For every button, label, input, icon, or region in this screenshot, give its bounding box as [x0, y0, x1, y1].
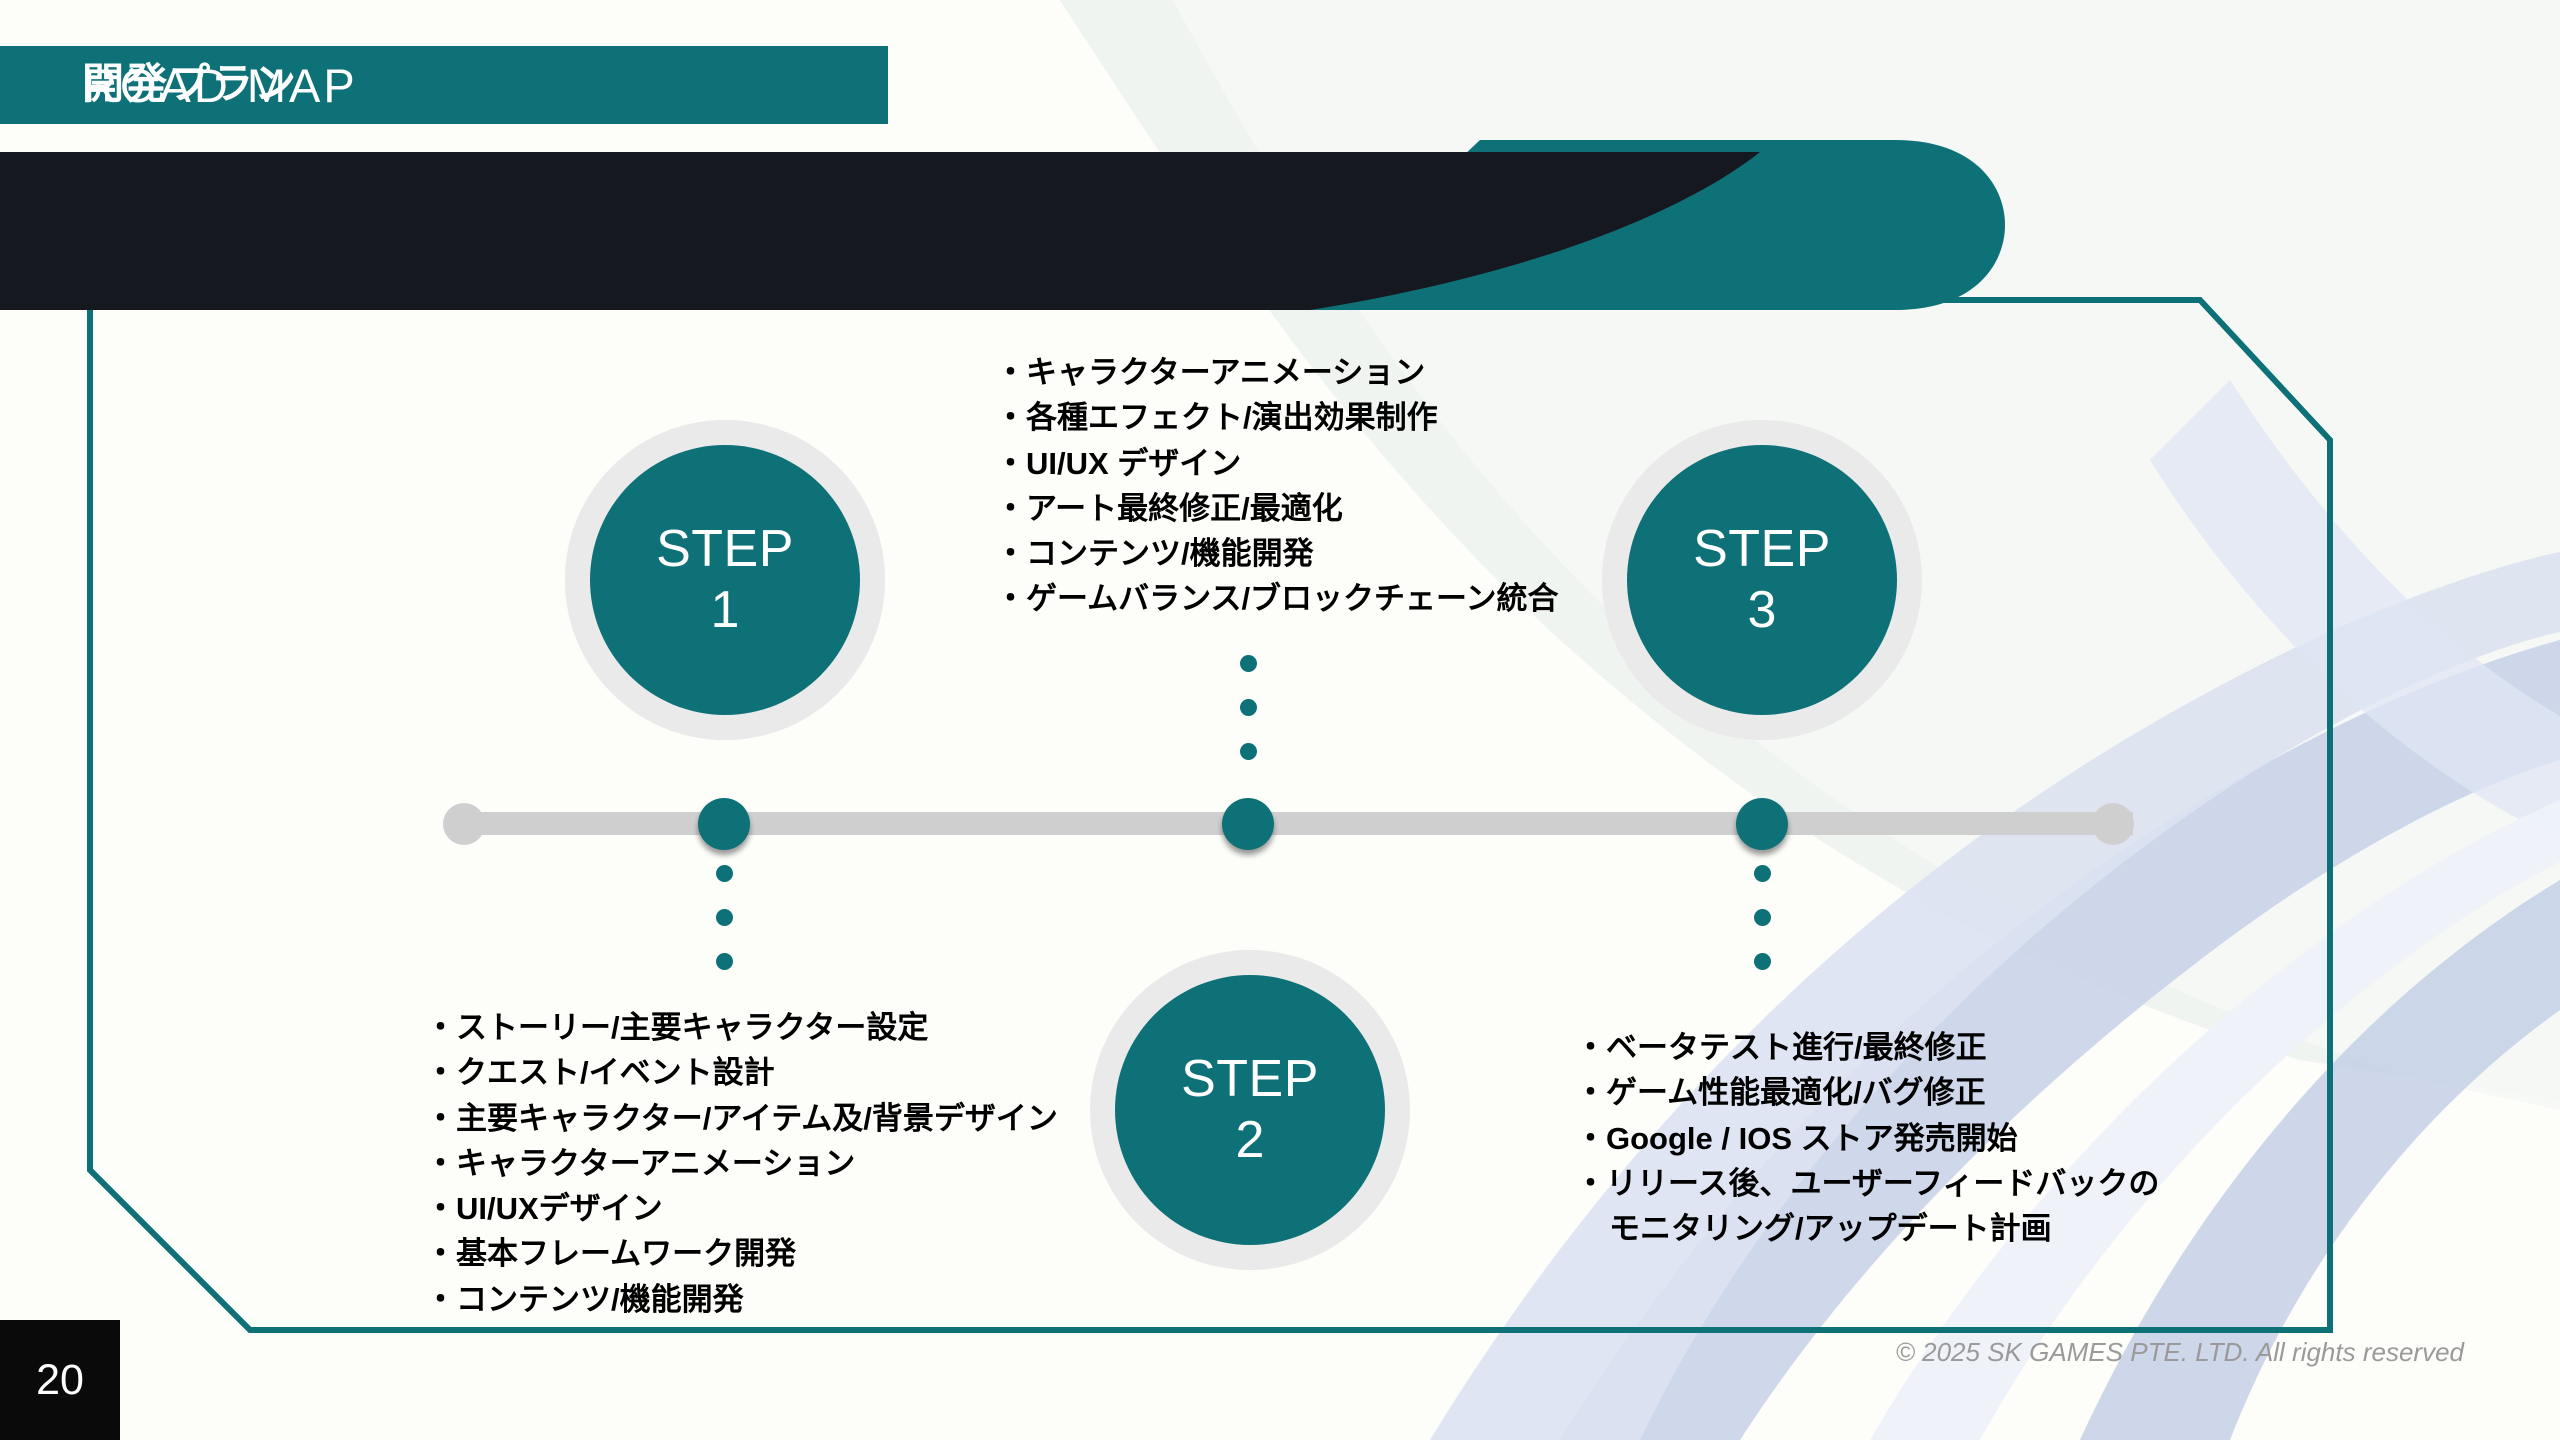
bullet-item: ・コンテンツ/機能開発 [995, 531, 1559, 576]
bubble-disc-3: STEP 3 [1627, 445, 1897, 715]
connector-dot [716, 953, 733, 970]
banner-shape [0, 140, 2010, 310]
connector-dots-step-2 [1240, 655, 1257, 787]
bullet-item: ・UI/UXデザイン [425, 1186, 1058, 1231]
timeline-start-cap [443, 803, 485, 845]
bubble-disc-1: STEP 1 [590, 445, 860, 715]
bullet-item: ・キャラクターアニメーション [995, 350, 1559, 395]
bullet-item: ・ベータテスト進行/最終修正 [1575, 1025, 2159, 1070]
bullet-item: ・ゲームバランス/ブロックチェーン統合 [995, 576, 1559, 621]
subtitle-text: 開発プラン [82, 50, 297, 111]
step-bubble-3[interactable]: STEP 3 [1602, 420, 1922, 740]
page-number-badge: 20 [0, 1320, 120, 1440]
bullet-item: ・コンテンツ/機能開発 [425, 1277, 1058, 1322]
connector-dot [716, 909, 733, 926]
connector-dot [716, 865, 733, 882]
bullet-item: ・ストーリー/主要キャラクター設定 [425, 1005, 1058, 1050]
timeline-end-cap [2092, 803, 2134, 845]
bullet-item: ・リリース後、ユーザーフィードバックの [1575, 1161, 2159, 1206]
bullet-item: ・キャラクターアニメーション [425, 1141, 1058, 1186]
step-number-2: 2 [1236, 1110, 1265, 1171]
connector-dot [1240, 655, 1257, 672]
connector-dot [1240, 699, 1257, 716]
connector-dot [1754, 953, 1771, 970]
step-number-3: 3 [1748, 580, 1777, 641]
bullet-item: ・主要キャラクター/アイテム及/背景デザイン [425, 1096, 1058, 1141]
bullet-item: ・ゲーム性能最適化/バグ修正 [1575, 1070, 2159, 1115]
bubble-disc-2: STEP 2 [1115, 975, 1385, 1245]
copyright-text: © 2025 SK GAMES PTE. LTD. All rights res… [1896, 1337, 2464, 1368]
timeline-node-step-1[interactable] [698, 798, 750, 850]
subtitle-banner [0, 140, 2010, 310]
step-number-1: 1 [711, 580, 740, 641]
step-label-2: STEP [1181, 1049, 1319, 1110]
step-1-bullet-list: ・ストーリー/主要キャラクター設定 ・クエスト/イベント設計 ・主要キャラクター… [425, 1005, 1058, 1322]
bullet-item: モニタリング/アップデート計画 [1575, 1206, 2159, 1251]
step-label-3: STEP [1693, 519, 1831, 580]
step-bubble-2[interactable]: STEP 2 [1090, 950, 1410, 1270]
connector-dot [1754, 865, 1771, 882]
bullet-item: ・基本フレームワーク開発 [425, 1231, 1058, 1276]
timeline-node-step-3[interactable] [1736, 798, 1788, 850]
bullet-item: ・アート最終修正/最適化 [995, 486, 1559, 531]
bullet-item: ・UI/UX デザイン [995, 441, 1559, 486]
bullet-item: ・クエスト/イベント設計 [425, 1050, 1058, 1095]
step-2-bullet-list: ・キャラクターアニメーション ・各種エフェクト/演出効果制作 ・UI/UX デザ… [995, 350, 1559, 622]
connector-dot [1754, 909, 1771, 926]
bullet-item: ・各種エフェクト/演出効果制作 [995, 395, 1559, 440]
step-label-1: STEP [656, 519, 794, 580]
connector-dots-step-1 [716, 865, 733, 997]
step-bubble-1[interactable]: STEP 1 [565, 420, 885, 740]
timeline-node-step-2[interactable] [1222, 798, 1274, 850]
connector-dot [1240, 743, 1257, 760]
connector-dots-step-3 [1754, 865, 1771, 997]
roadmap-slide: 開発プラン ROAD MAP STEP 1 [0, 0, 2560, 1440]
step-3-bullet-list: ・ベータテスト進行/最終修正 ・ゲーム性能最適化/バグ修正 ・Google / … [1575, 1025, 2159, 1251]
bullet-item: ・Google / IOS ストア発売開始 [1575, 1116, 2159, 1161]
